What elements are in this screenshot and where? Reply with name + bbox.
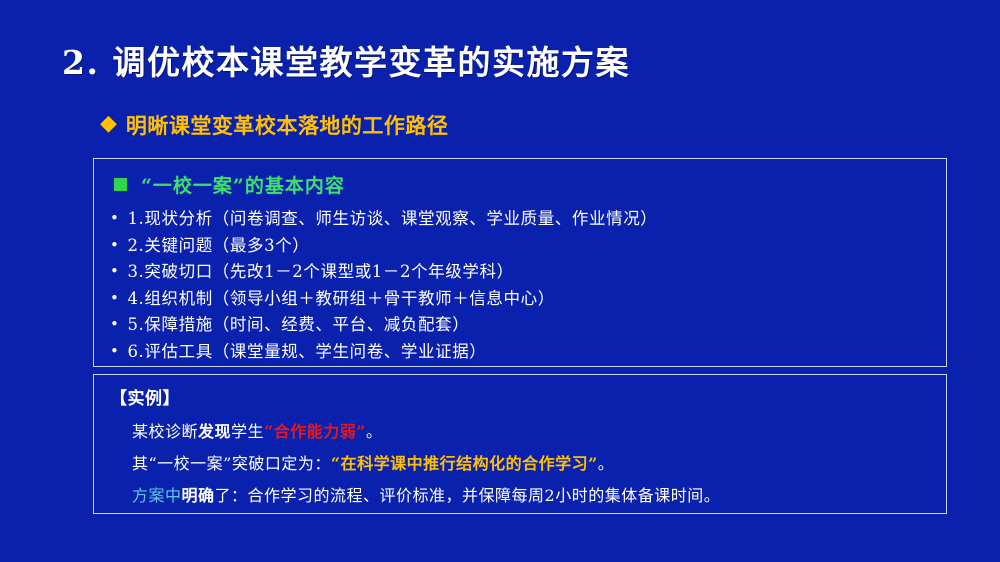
list-item-label: 3.突破切口（先改1－2个课型或1－2个年级学科） (127, 258, 513, 282)
content-box: “一校一案”的基本内容 •1.现状分析（问卷调查、师生访谈、课堂观察、学业质量、… (93, 158, 947, 367)
content-box-heading-label: “一校一案”的基本内容 (141, 171, 345, 198)
dot-bullet-icon: • (110, 238, 119, 253)
example-text-segment: 了：合作学习的流程、评价标准，并保障每周2小时的集体备课时间。 (215, 486, 721, 505)
example-text-segment: 。 (366, 422, 383, 441)
list-item: •1.现状分析（问卷调查、师生访谈、课堂观察、学业质量、作业情况） (110, 205, 936, 232)
subheading: ◆ 明晰课堂变革校本落地的工作路径 (100, 110, 448, 140)
dot-bullet-icon: • (110, 344, 119, 359)
page-title: 2. 调优校本课堂教学变革的实施方案 (62, 36, 630, 84)
dot-bullet-icon: • (110, 291, 119, 306)
list-item: •4.组织机制（领导小组＋教研组＋骨干教师＋信息中心） (110, 285, 936, 312)
example-line-list: 某校诊断发现学生“合作能力弱”。其“一校一案”突破口定为：“在科学课中推行结构化… (132, 416, 940, 512)
dot-bullet-icon: • (110, 317, 119, 332)
square-bullet-icon (114, 178, 127, 191)
dot-bullet-icon: • (110, 211, 119, 226)
example-line: 其“一校一案”突破口定为：“在科学课中推行结构化的合作学习”。 (132, 448, 940, 480)
list-item-label: 1.现状分析（问卷调查、师生访谈、课堂观察、学业质量、作业情况） (127, 205, 657, 229)
diamond-bullet-icon: ◆ (100, 113, 117, 135)
example-text-segment: 学生 (231, 422, 264, 441)
content-item-list: •1.现状分析（问卷调查、师生访谈、课堂观察、学业质量、作业情况）•2.关键问题… (110, 205, 936, 364)
list-item-label: 4.组织机制（领导小组＋教研组＋骨干教师＋信息中心） (127, 285, 554, 309)
content-box-heading: “一校一案”的基本内容 (114, 171, 345, 198)
dot-bullet-icon: • (110, 264, 119, 279)
list-item-label: 2.关键问题（最多3个） (127, 232, 309, 256)
example-box-title: 【实例】 (110, 384, 180, 409)
list-item-label: 6.评估工具（课堂量规、学生问卷、学业证据） (127, 338, 486, 362)
example-line: 某校诊断发现学生“合作能力弱”。 (132, 416, 940, 448)
example-text-segment: 明确 (182, 486, 215, 505)
list-item: •6.评估工具（课堂量规、学生问卷、学业证据） (110, 338, 936, 365)
slide-canvas: 2. 调优校本课堂教学变革的实施方案 ◆ 明晰课堂变革校本落地的工作路径 “一校… (0, 0, 1000, 562)
list-item: •5.保障措施（时间、经费、平台、减负配套） (110, 311, 936, 338)
example-text-segment: “合作能力弱” (264, 422, 366, 441)
example-box: 【实例】 某校诊断发现学生“合作能力弱”。其“一校一案”突破口定为：“在科学课中… (93, 374, 947, 514)
example-text-segment: 方案中 (132, 486, 182, 505)
example-text-segment: 其“一校一案”突破口定为： (132, 454, 331, 473)
example-text-segment: 。 (598, 454, 615, 473)
example-text-segment: “在科学课中推行结构化的合作学习” (331, 454, 598, 473)
example-text-segment: 发现 (198, 422, 231, 441)
example-line: 方案中明确了：合作学习的流程、评价标准，并保障每周2小时的集体备课时间。 (132, 480, 940, 512)
list-item-label: 5.保障措施（时间、经费、平台、减负配套） (127, 311, 469, 335)
example-text-segment: 某校诊断 (132, 422, 198, 441)
list-item: •2.关键问题（最多3个） (110, 232, 936, 259)
list-item: •3.突破切口（先改1－2个课型或1－2个年级学科） (110, 258, 936, 285)
subheading-label: 明晰课堂变革校本落地的工作路径 (126, 110, 449, 140)
